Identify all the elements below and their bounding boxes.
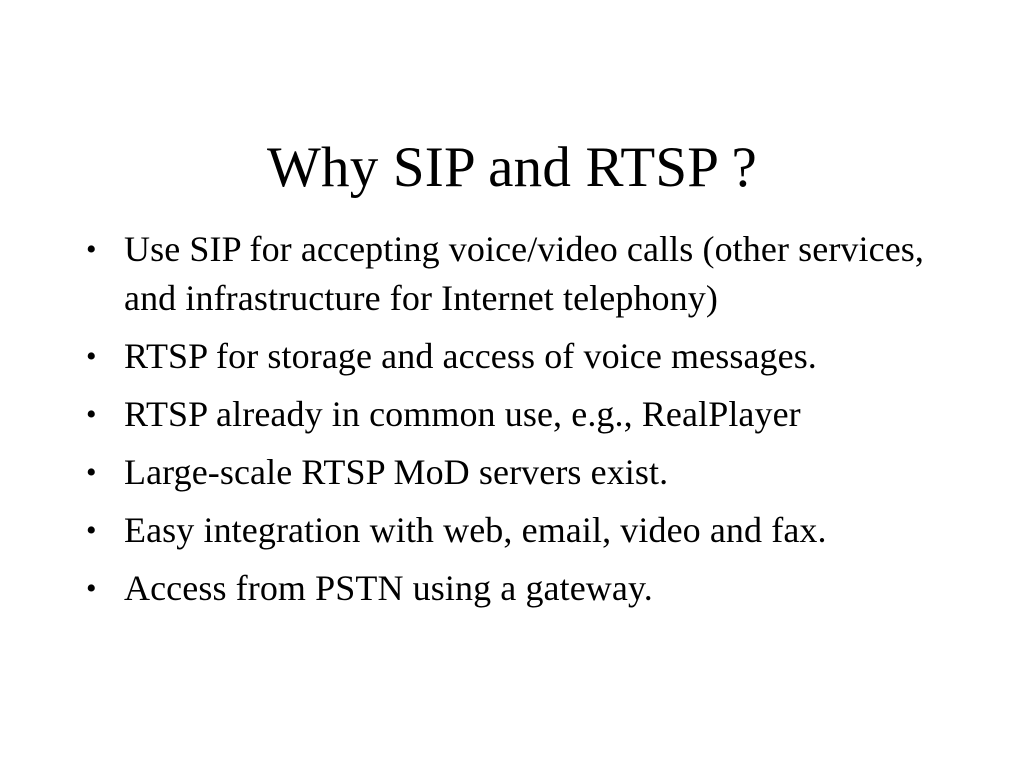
bullet-point-icon: •: [86, 564, 124, 613]
list-item-text: RTSP already in common use, e.g., RealPl…: [124, 390, 942, 439]
list-item-text: Large-scale RTSP MoD servers exist.: [124, 448, 942, 497]
slide-title: Why SIP and RTSP ?: [0, 136, 1024, 200]
list-item: • Access from PSTN using a gateway.: [86, 564, 942, 613]
list-item: • Large-scale RTSP MoD servers exist.: [86, 448, 942, 497]
list-item: • Use SIP for accepting voice/video call…: [86, 225, 942, 323]
bullet-point-icon: •: [86, 506, 124, 555]
list-item: • Easy integration with web, email, vide…: [86, 506, 942, 555]
list-item: • RTSP already in common use, e.g., Real…: [86, 390, 942, 439]
bullet-point-icon: •: [86, 448, 124, 497]
list-item-text: Use SIP for accepting voice/video calls …: [124, 225, 942, 323]
list-item: • RTSP for storage and access of voice m…: [86, 332, 942, 381]
list-item-text: Access from PSTN using a gateway.: [124, 564, 942, 613]
bullet-list: • Use SIP for accepting voice/video call…: [86, 225, 942, 613]
list-item-text: RTSP for storage and access of voice mes…: [124, 332, 942, 381]
bullet-point-icon: •: [86, 332, 124, 381]
list-item-text: Easy integration with web, email, video …: [124, 506, 942, 555]
bullet-point-icon: •: [86, 225, 124, 274]
bullet-point-icon: •: [86, 390, 124, 439]
presentation-slide: Why SIP and RTSP ? • Use SIP for accepti…: [0, 0, 1024, 768]
